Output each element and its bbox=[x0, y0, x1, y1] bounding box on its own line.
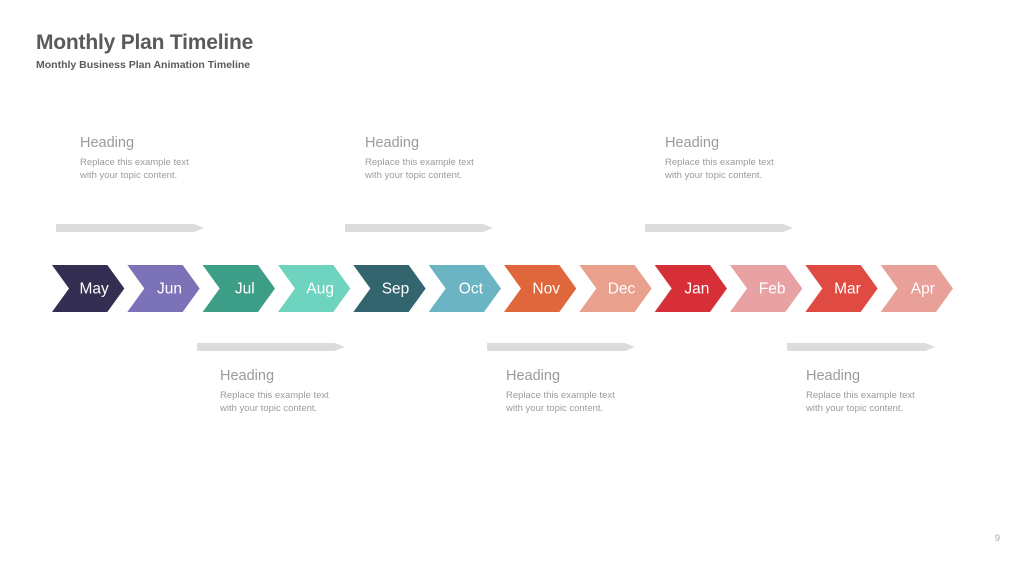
connector-bar-below-2 bbox=[487, 343, 635, 351]
connector-bar-below-1 bbox=[197, 343, 345, 351]
connector-bar-above-3 bbox=[645, 224, 793, 232]
timeline-segment-label: Feb bbox=[759, 281, 786, 298]
text-block-above-2: Heading Replace this example text with y… bbox=[365, 134, 545, 182]
block-body: Replace this example text with your topi… bbox=[806, 389, 926, 415]
block-heading: Heading bbox=[806, 367, 986, 385]
connector-bar-above-2 bbox=[345, 224, 493, 232]
block-heading: Heading bbox=[665, 134, 845, 152]
block-body: Replace this example text with your topi… bbox=[80, 156, 200, 182]
text-block-below-3: Heading Replace this example text with y… bbox=[806, 367, 986, 415]
timeline-segment-label: Aug bbox=[306, 281, 334, 298]
page-subtitle: Monthly Business Plan Animation Timeline bbox=[36, 58, 253, 72]
timeline-segment-label: Jul bbox=[235, 281, 255, 298]
timeline-segment-label: Dec bbox=[608, 281, 636, 298]
block-heading: Heading bbox=[506, 367, 686, 385]
block-body: Replace this example text with your topi… bbox=[506, 389, 626, 415]
timeline-segment-label: Nov bbox=[532, 281, 560, 298]
page-title: Monthly Plan Timeline bbox=[36, 30, 253, 56]
timeline-segment-label: Apr bbox=[911, 281, 935, 298]
text-block-above-1: Heading Replace this example text with y… bbox=[80, 134, 260, 182]
block-heading: Heading bbox=[80, 134, 260, 152]
block-heading: Heading bbox=[220, 367, 400, 385]
block-body: Replace this example text with your topi… bbox=[220, 389, 340, 415]
timeline-segment-label: Jun bbox=[157, 281, 182, 298]
timeline-segment-label: May bbox=[80, 281, 110, 298]
timeline-segment-label: Mar bbox=[834, 281, 861, 298]
block-heading: Heading bbox=[365, 134, 545, 152]
timeline-segment-label: Sep bbox=[382, 281, 410, 298]
title-block: Monthly Plan Timeline Monthly Business P… bbox=[36, 30, 253, 72]
connector-bar-above-1 bbox=[56, 224, 204, 232]
connector-bar-below-3 bbox=[787, 343, 935, 351]
block-body: Replace this example text with your topi… bbox=[665, 156, 785, 182]
timeline-segment-label: Jan bbox=[684, 281, 709, 298]
timeline-chevron-bar: MayJunJulAugSepOctNovDecJanFebMarApr bbox=[0, 265, 1024, 313]
text-block-below-1: Heading Replace this example text with y… bbox=[220, 367, 400, 415]
text-block-above-3: Heading Replace this example text with y… bbox=[665, 134, 845, 182]
page-number: 9 bbox=[995, 533, 1000, 544]
text-block-below-2: Heading Replace this example text with y… bbox=[506, 367, 686, 415]
timeline-segment-label: Oct bbox=[459, 281, 484, 298]
block-body: Replace this example text with your topi… bbox=[365, 156, 485, 182]
